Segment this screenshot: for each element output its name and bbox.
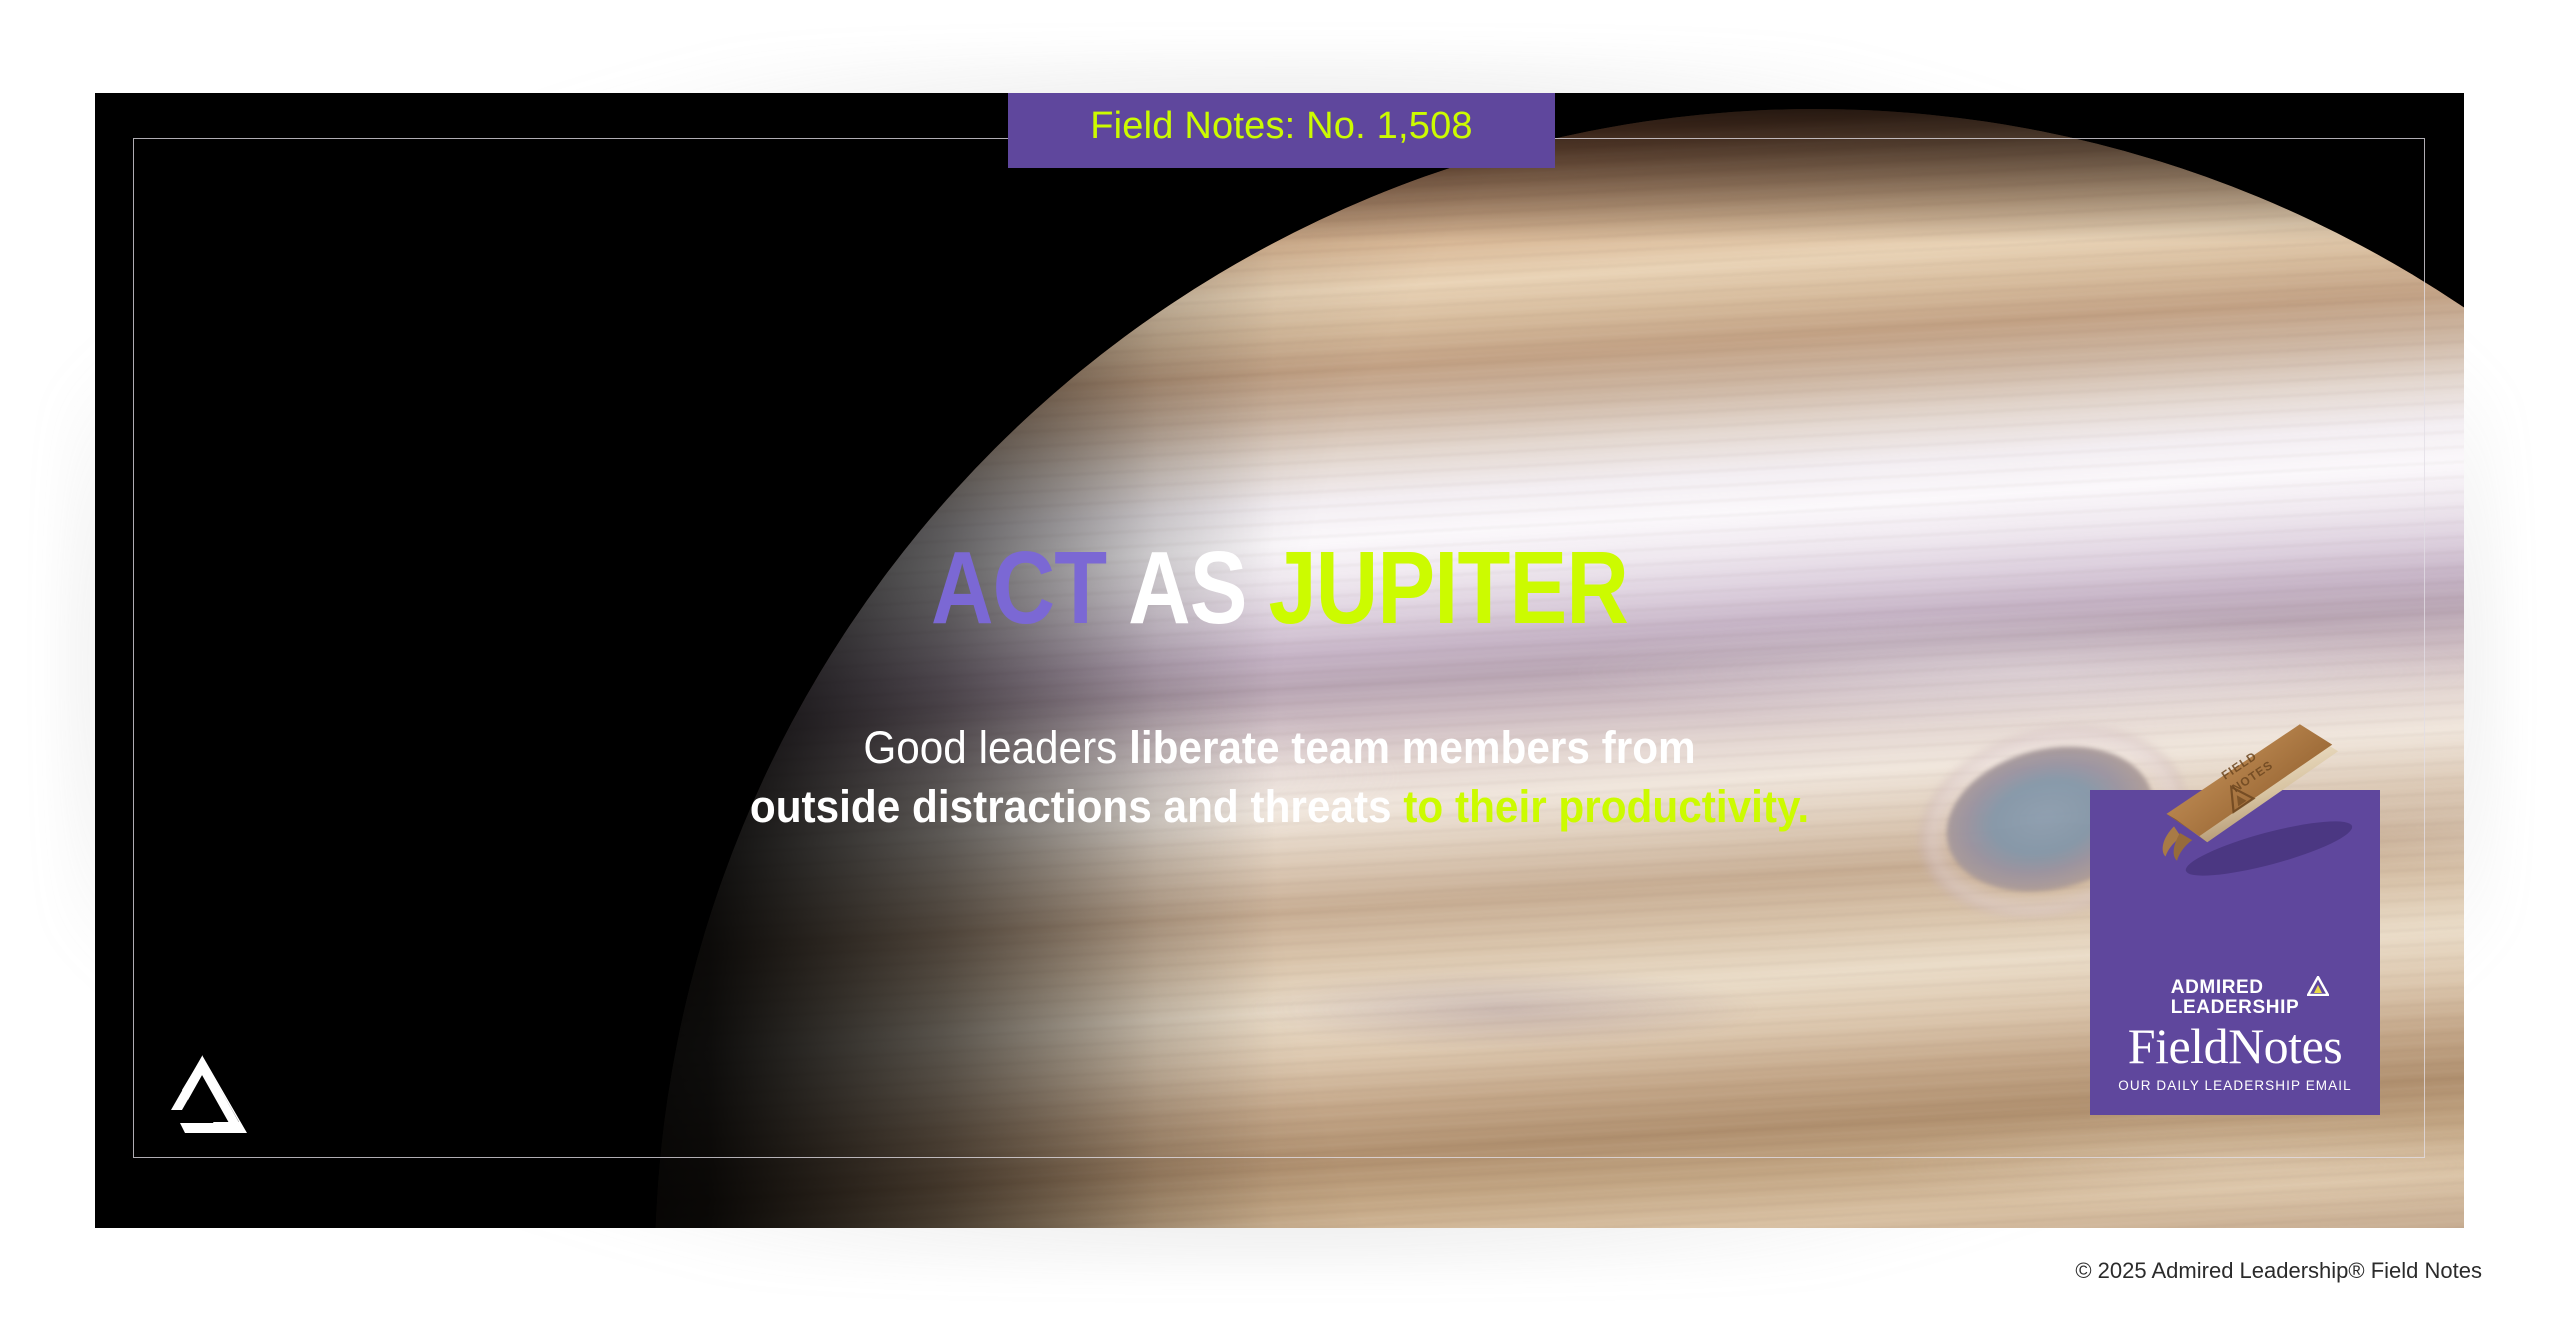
field-notes-number-badge: Field Notes: No. 1,508 [1008,93,1555,168]
subtitle-highlight-text: to their productivity. [1403,781,1809,832]
admired-leadership-triangle-icon [2307,976,2329,996]
title-word-jupiter: JUPITER [1268,530,1628,645]
title-word-act: ACT [931,530,1106,645]
subtitle: Good leaders liberate team members from … [166,718,2393,837]
page-canvas: Field Notes: No. 1,508 ACTASJUPITER Good… [0,0,2560,1340]
fieldnotes-wordmark: FieldNotes [2090,1020,2380,1072]
title-word-as: AS [1128,530,1247,645]
subtitle-line-2: outside distractions and threats to thei… [166,777,2393,836]
subtitle-light-text: Good leaders [863,722,1129,773]
promo-logo-block: ADMIRED LEADERSHIP FieldNotes OUR DAILY … [2090,978,2380,1093]
subtitle-line-1: Good leaders liberate team members from [166,718,2393,777]
subtitle-bold-text-1: liberate team members from [1129,722,1696,773]
admired-leadership-wordmark: ADMIRED LEADERSHIP [2171,978,2299,1018]
promo-tagline: OUR DAILY LEADERSHIP EMAIL [2090,1078,2380,1093]
admired-leadership-triangle-logo [155,1053,249,1139]
subtitle-bold-text-2: outside distractions and threats [750,781,1403,832]
brand-line-2: LEADERSHIP [2171,997,2299,1018]
brand-line-1: ADMIRED [2171,977,2264,998]
page-title: ACTASJUPITER [285,536,2275,639]
slide: Field Notes: No. 1,508 ACTASJUPITER Good… [95,93,2464,1228]
copyright-footer: © 2025 Admired Leadership® Field Notes [2075,1258,2482,1284]
field-notes-number-label: Field Notes: No. 1,508 [1090,105,1473,148]
